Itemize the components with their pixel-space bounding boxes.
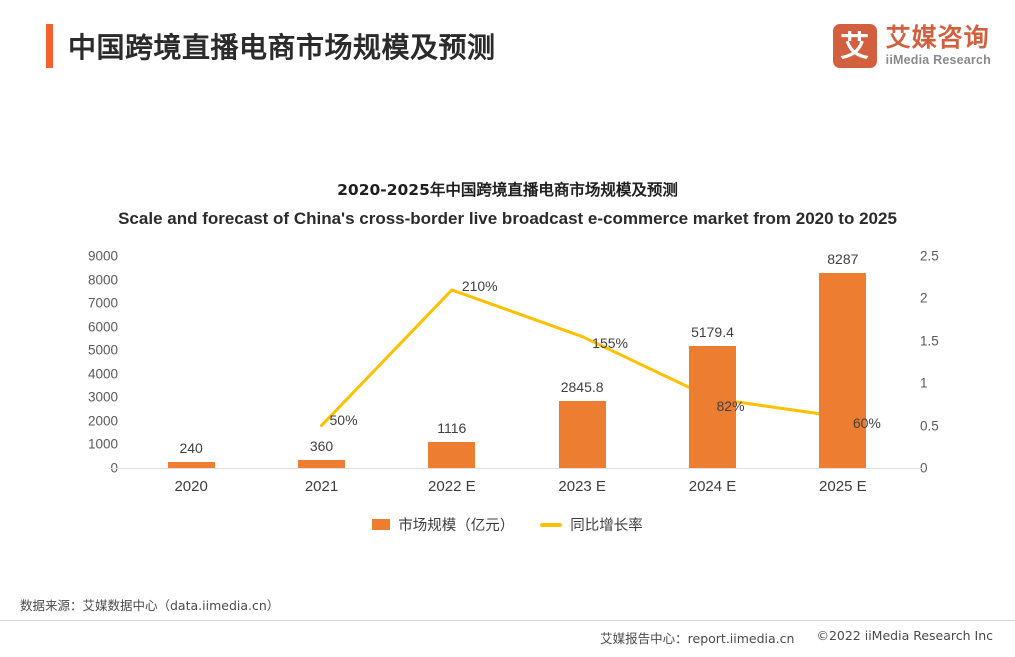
y-axis-tick: 2.5 [920, 249, 939, 263]
y-axis-tick: 2 [920, 292, 928, 306]
growth-rate-label: 82% [717, 398, 745, 414]
page-header: 中国跨境直播电商市场规模及预测 艾 艾媒咨询 iiMedia Research [0, 0, 1015, 96]
bar-2025-E[interactable] [819, 273, 866, 468]
growth-rate-line-svg [126, 256, 908, 468]
x-axis-label-2025-E: 2025 E [819, 478, 867, 495]
brand-logo: 艾 艾媒咨询 iiMedia Research [833, 24, 991, 68]
chart-container: 2020-2025年中国跨境直播电商市场规模及预测 Scale and fore… [0, 96, 1015, 566]
legend-item-growth-rate[interactable]: 同比增长率 [540, 514, 643, 535]
y-axis-tick: 4000 [88, 367, 118, 381]
legend-label-market-size: 市场规模（亿元） [398, 514, 514, 535]
y-axis-tick: 8000 [88, 273, 118, 287]
bar-2020[interactable] [168, 462, 215, 468]
y-axis-left: 9000800070006000500040003000200010000 [62, 256, 118, 468]
legend-item-market-size[interactable]: 市场规模（亿元） [372, 514, 514, 535]
x-axis-baseline [108, 468, 926, 469]
brand-name-en: iiMedia Research [886, 54, 991, 67]
bar-2022-E[interactable] [428, 442, 475, 468]
iimedia-logo-icon: 艾 [833, 24, 877, 68]
y-axis-tick: 6000 [88, 320, 118, 334]
y-axis-tick: 3000 [88, 391, 118, 405]
bar-2023-E[interactable] [559, 401, 606, 468]
y-axis-tick: 7000 [88, 296, 118, 310]
x-axis-label-2023-E: 2023 E [558, 478, 606, 495]
copyright-text: ©2022 iiMedia Research Inc [816, 628, 993, 647]
bar-value-label: 1116 [397, 420, 507, 436]
y-axis-right: 2.521.510.50 [920, 256, 970, 468]
x-axis: 202020212022 E2023 E2024 E2025 E [126, 478, 908, 504]
chart-legend: 市场规模（亿元） 同比增长率 [0, 514, 1015, 535]
report-center-text: 艾媒报告中心：report.iimedia.cn [600, 628, 794, 647]
legend-label-growth-rate: 同比增长率 [570, 514, 643, 535]
x-axis-label-2024-E: 2024 E [689, 478, 737, 495]
chart-title: 2020-2025年中国跨境直播电商市场规模及预测 [0, 178, 1015, 200]
brand-text: 艾媒咨询 iiMedia Research [886, 25, 991, 66]
y-axis-tick: 1000 [88, 438, 118, 452]
bar-value-label: 360 [267, 438, 377, 454]
y-axis-tick: 5000 [88, 343, 118, 357]
chart-subtitle: Scale and forecast of China's cross-bord… [0, 209, 1015, 229]
x-axis-label-2021: 2021 [305, 478, 338, 495]
footer-divider [0, 620, 1015, 621]
title-accent-bar [46, 24, 53, 68]
bar-value-label: 2845.8 [527, 379, 637, 395]
data-source-text: 数据来源：艾媒数据中心（data.iimedia.cn） [20, 595, 279, 614]
plot-area: 24036011162845.85179.4828750%210%155%82%… [126, 256, 908, 468]
bar-value-label: 5179.4 [658, 324, 768, 340]
legend-bar-swatch-icon [372, 519, 390, 530]
y-axis-tick: 9000 [88, 249, 118, 263]
x-axis-label-2020: 2020 [174, 478, 207, 495]
x-axis-label-2022-E: 2022 E [428, 478, 476, 495]
y-axis-tick: 0.5 [920, 419, 939, 433]
legend-line-swatch-icon [540, 523, 562, 527]
y-axis-tick: 2000 [88, 414, 118, 428]
y-axis-tick: 1.5 [920, 334, 939, 348]
growth-rate-label: 60% [853, 415, 881, 431]
bar-value-label: 8287 [788, 251, 898, 267]
y-axis-tick: 1 [920, 376, 928, 390]
growth-rate-label: 50% [330, 412, 358, 428]
brand-name-cn: 艾媒咨询 [886, 25, 991, 51]
bar-2021[interactable] [298, 460, 345, 468]
bar-value-label: 240 [136, 440, 246, 456]
growth-rate-label: 210% [462, 278, 498, 294]
page-title: 中国跨境直播电商市场规模及预测 [68, 26, 496, 66]
footer-right: 艾媒报告中心：report.iimedia.cn ©2022 iiMedia R… [600, 628, 993, 647]
growth-rate-label: 155% [592, 335, 628, 351]
